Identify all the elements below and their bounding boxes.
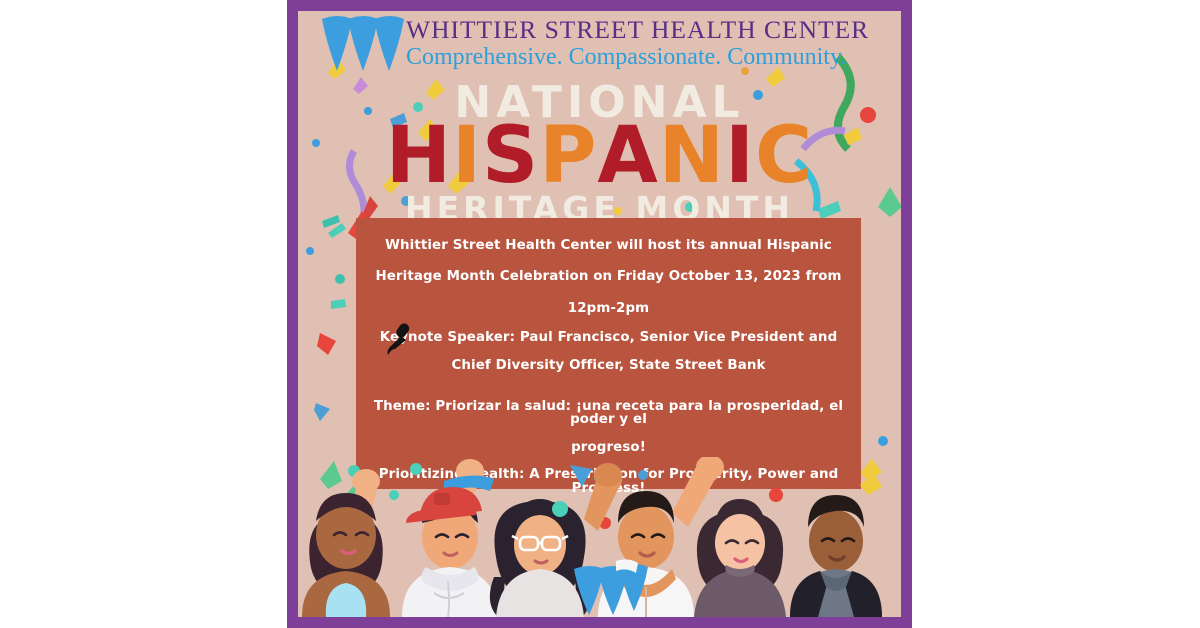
card-line-5: Chief Diversity Officer, State Street Ba… — [372, 352, 845, 379]
microphone-icon — [384, 322, 414, 356]
poster-frame: WHITTIER STREET HEALTH CENTER Comprehens… — [287, 0, 912, 628]
card-line-1: Whittier Street Health Center will host … — [372, 230, 845, 261]
event-details-card: Whittier Street Health Center will host … — [356, 218, 861, 489]
organization-name: WHITTIER STREET HEALTH CENTER — [406, 16, 898, 44]
hispanic-letter: S — [482, 117, 539, 195]
hispanic-letter: C — [755, 117, 813, 195]
hispanic-letter: H — [386, 117, 452, 195]
person-2-man-red-cap — [402, 487, 498, 617]
title-hispanic: HISPANIC — [298, 117, 901, 195]
card-line-6: Theme: Priorizar la salud: ¡una receta p… — [372, 393, 845, 434]
whittier-heart-logo — [316, 15, 420, 75]
group-of-people-cheering — [298, 457, 901, 617]
card-line-3: 12pm-2pm — [372, 293, 845, 324]
person-6-man-vest — [790, 495, 882, 617]
person-3-woman-glasses — [490, 499, 590, 617]
card-line-2: Heritage Month Celebration on Friday Oct… — [372, 261, 845, 292]
poster-header: WHITTIER STREET HEALTH CENTER Comprehens… — [298, 11, 901, 79]
organization-tagline: Comprehensive. Compassionate. Community. — [406, 44, 898, 71]
hispanic-letter: A — [597, 117, 658, 195]
hispanic-letter: I — [452, 117, 482, 195]
poster-body: WHITTIER STREET HEALTH CENTER Comprehens… — [298, 11, 901, 617]
person-5-woman-bob — [694, 499, 786, 617]
card-spacer — [372, 379, 845, 393]
hispanic-letter: P — [539, 117, 597, 195]
poster-canvas: WHITTIER STREET HEALTH CENTER Comprehens… — [0, 0, 1200, 628]
card-line-4: Keynote Speaker: Paul Francisco, Senior … — [372, 324, 845, 351]
hispanic-letter: N — [659, 117, 725, 195]
brand-block: WHITTIER STREET HEALTH CENTER Comprehens… — [406, 16, 898, 70]
hispanic-letter: I — [725, 117, 755, 195]
person-1-woman-tank-top — [302, 493, 390, 617]
